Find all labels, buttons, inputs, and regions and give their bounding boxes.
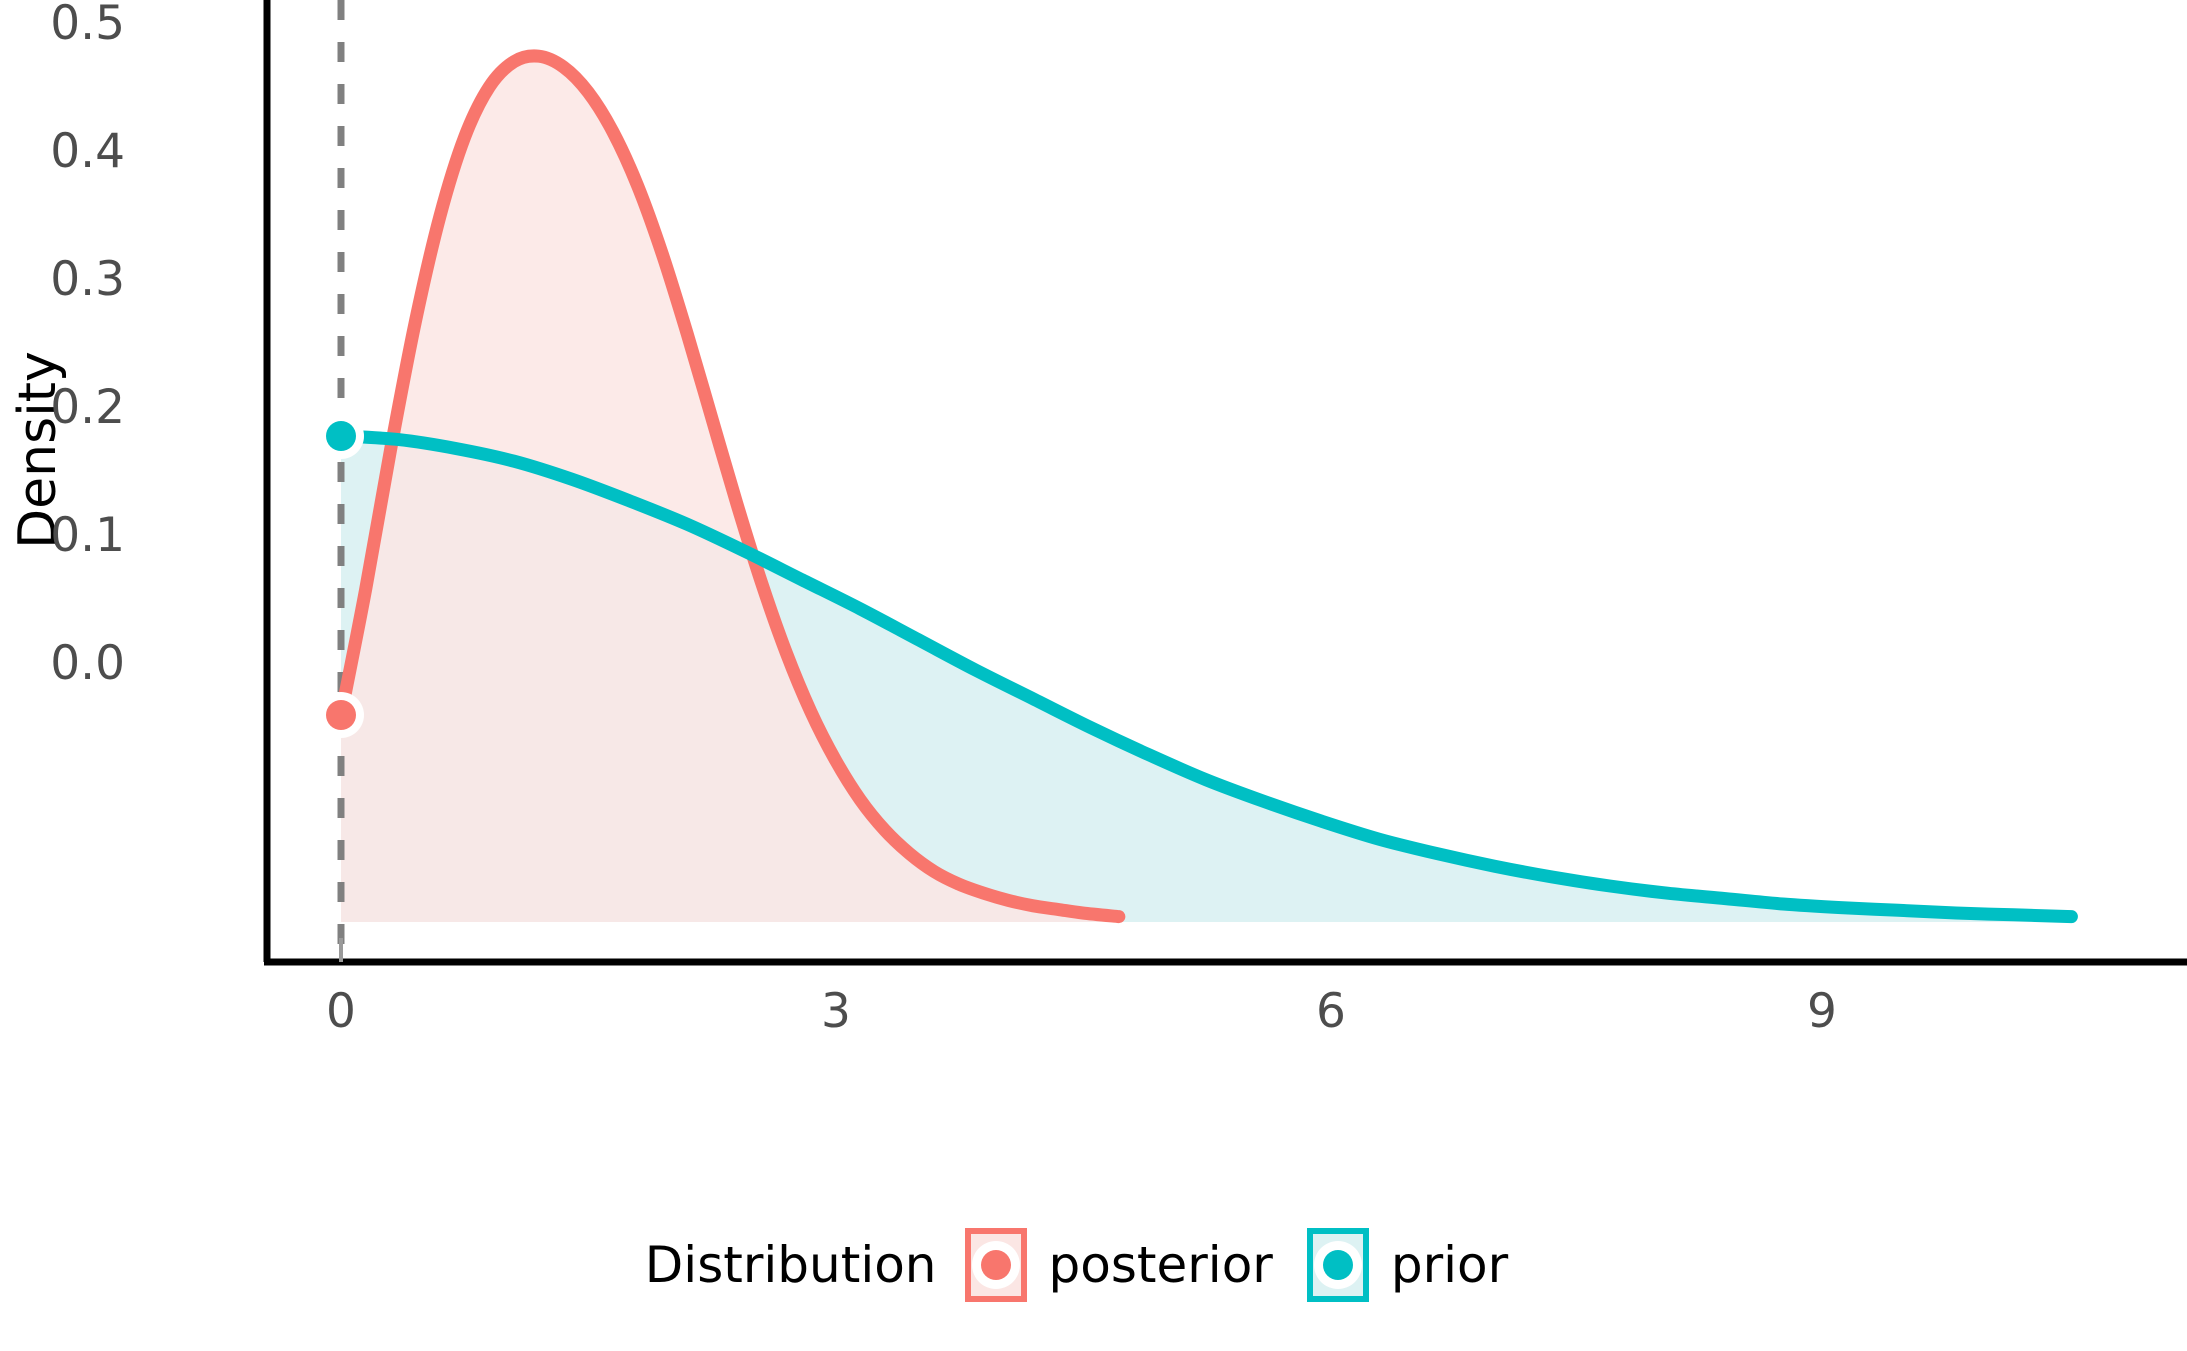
legend-label-posterior: posterior	[1049, 1236, 1273, 1294]
legend-key-dot	[981, 1250, 1011, 1280]
x-tick-label-3: 3	[776, 988, 896, 1035]
legend-key-dot	[1323, 1250, 1353, 1280]
legend-key-prior-icon	[1307, 1228, 1369, 1302]
legend: Distribution posterior prior	[0, 1215, 2187, 1315]
posterior-point-marker	[326, 700, 356, 730]
legend-title: Distribution	[645, 1236, 937, 1294]
legend-key-posterior-icon	[965, 1228, 1027, 1302]
legend-entry-prior[interactable]: prior	[1307, 1228, 1508, 1302]
x-tick-label-6: 6	[1271, 988, 1391, 1035]
prior-point-marker	[326, 421, 356, 451]
x-tick-label-0: 0	[281, 988, 401, 1035]
plot-canvas	[0, 0, 2187, 1000]
plot-panel	[0, 0, 2187, 1000]
x-tick-label-9: 9	[1762, 988, 1882, 1035]
legend-label-prior: prior	[1391, 1236, 1508, 1294]
density-plot-figure: Density 0.5 0.4 0.3 0.2 0.1 0.0	[0, 0, 2187, 1351]
legend-entry-posterior[interactable]: posterior	[965, 1228, 1273, 1302]
